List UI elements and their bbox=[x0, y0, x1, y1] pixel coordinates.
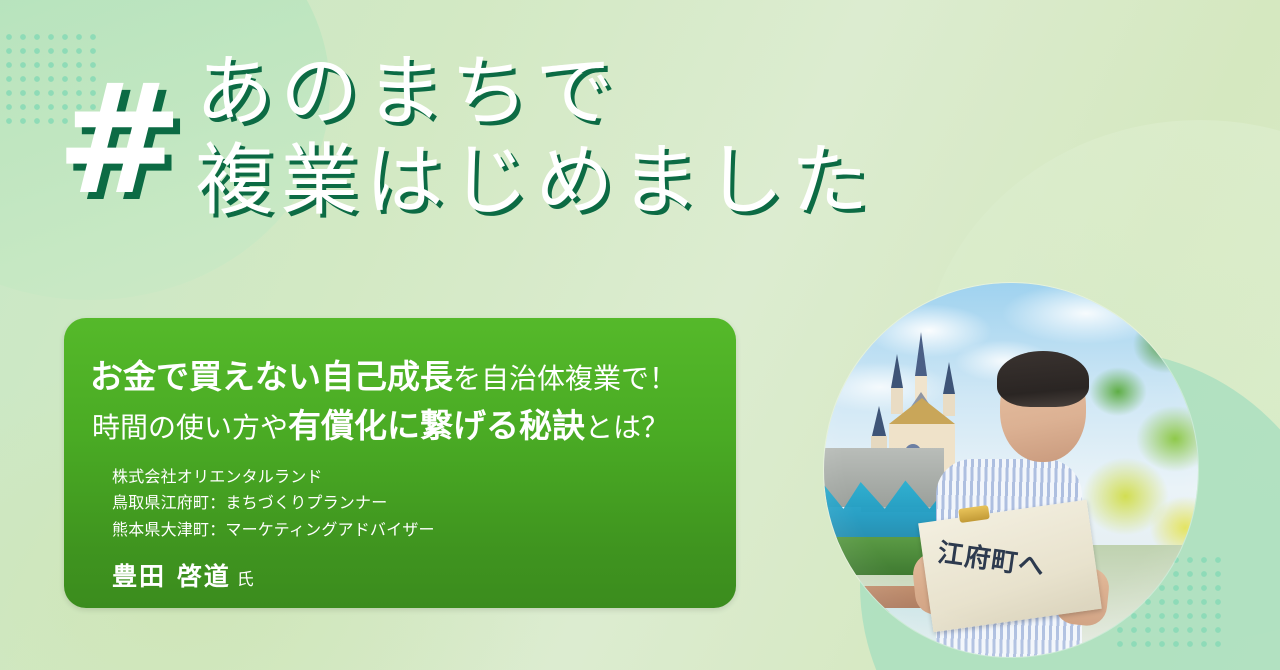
card-heading-line-1: お金で買えない自己成長を自治体複業で！ bbox=[90, 354, 706, 401]
background-building bbox=[824, 448, 944, 508]
headline-line-1: あのまちで bbox=[195, 48, 875, 137]
headline-line-2: 複業はじめました bbox=[195, 137, 875, 226]
affiliation-item: 株式会社オリエンタルランド bbox=[112, 464, 706, 490]
portrait-photo: 江府町へ bbox=[824, 283, 1198, 657]
card-heading-2-lead: 時間の使い方や bbox=[92, 411, 288, 444]
seminar-banner: # あのまちで 複業はじめました お金で買えない自己成長を自治体複業で！ 時間の… bbox=[0, 0, 1280, 670]
card-heading-1-emphasis: お金で買えない自己成長 bbox=[90, 357, 453, 396]
card-heading-2-rest: とは？ bbox=[585, 411, 669, 444]
hashtag-icon: # bbox=[56, 72, 179, 209]
headline-row: # あのまちで 複業はじめました bbox=[56, 48, 1016, 226]
person-hair bbox=[997, 351, 1089, 407]
card-heading-1-rest: を自治体複業で！ bbox=[453, 362, 677, 395]
speaker-block: 豊田 啓道氏 bbox=[90, 557, 706, 593]
headline-lines: あのまちで 複業はじめました bbox=[195, 48, 875, 226]
sign-text: 江府町へ bbox=[936, 532, 1048, 584]
headline-block: # あのまちで 複業はじめました bbox=[56, 48, 1016, 226]
speaker-name: 豊田 啓道 bbox=[112, 562, 231, 591]
card-heading-2-emphasis: 有償化に繋げる秘訣 bbox=[288, 406, 585, 445]
speaker-affiliations: 株式会社オリエンタルランド 鳥取県江府町：まちづくりプランナー 熊本県大津町：マ… bbox=[90, 464, 706, 543]
affiliation-item: 鳥取県江府町：まちづくりプランナー bbox=[112, 490, 706, 516]
affiliation-item: 熊本県大津町：マーケティングアドバイザー bbox=[112, 517, 706, 543]
speaker-name-suffix: 氏 bbox=[237, 570, 254, 590]
card-heading-line-2: 時間の使い方や有償化に繋げる秘訣とは？ bbox=[90, 403, 706, 450]
speaker-portrait: 江府町へ bbox=[824, 283, 1198, 657]
session-info-card: お金で買えない自己成長を自治体複業で！ 時間の使い方や有償化に繋げる秘訣とは？ … bbox=[64, 318, 736, 608]
